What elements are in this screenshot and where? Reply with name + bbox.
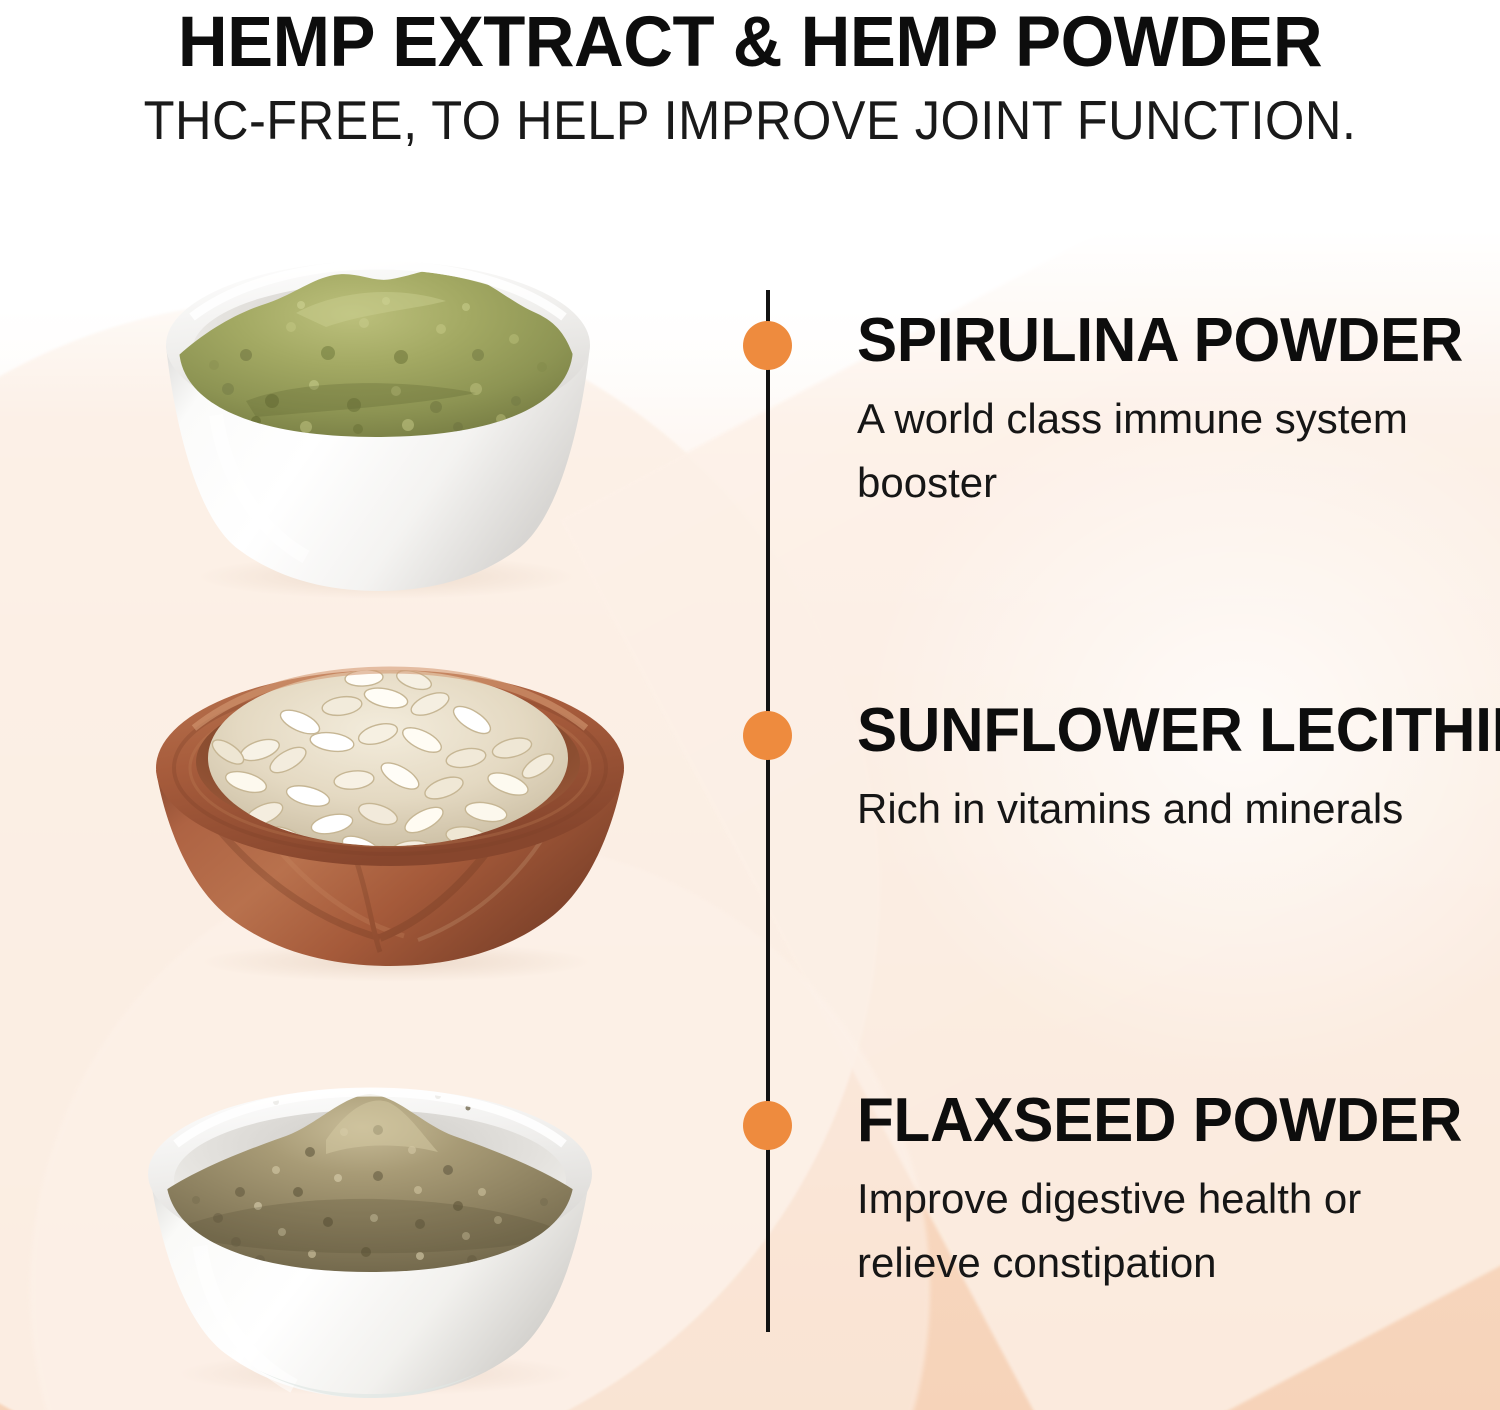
page-subtitle: THC-FREE, TO HELP IMPROVE JOINT FUNCTION… <box>60 80 1440 150</box>
page-title: HEMP EXTRACT & HEMP POWDER <box>23 0 1478 80</box>
infographic-page: HEMP EXTRACT & HEMP POWDER THC-FREE, TO … <box>0 0 1500 1410</box>
feature-sunflower-lecithin: SUNFLOWER LECITHIN Rich in vitamins and … <box>857 699 1457 841</box>
feature-spirulina-powder: SPIRULINA POWDER A world class immune sy… <box>857 309 1457 515</box>
feature-title: FLAXSEED POWDER <box>857 1089 1439 1153</box>
timeline-vertical-line <box>766 290 770 1332</box>
feature-flaxseed-powder: FLAXSEED POWDER Improve digestive health… <box>857 1089 1457 1295</box>
flaxseed-powder-bowl <box>70 1010 670 1400</box>
feature-description: A world class immune system booster <box>857 387 1417 515</box>
feature-description: Improve digestive health or relieve cons… <box>857 1167 1417 1295</box>
orange-dot-icon <box>743 321 792 370</box>
feature-description: Rich in vitamins and minerals <box>857 777 1417 841</box>
sunflower-seeds-bowl <box>118 600 658 990</box>
header: HEMP EXTRACT & HEMP POWDER THC-FREE, TO … <box>0 0 1500 150</box>
feature-title: SUNFLOWER LECITHIN <box>857 699 1439 763</box>
feature-title: SPIRULINA POWDER <box>857 309 1439 373</box>
orange-dot-icon <box>743 1101 792 1150</box>
spirulina-powder-bowl <box>96 205 656 605</box>
orange-dot-icon <box>743 711 792 760</box>
